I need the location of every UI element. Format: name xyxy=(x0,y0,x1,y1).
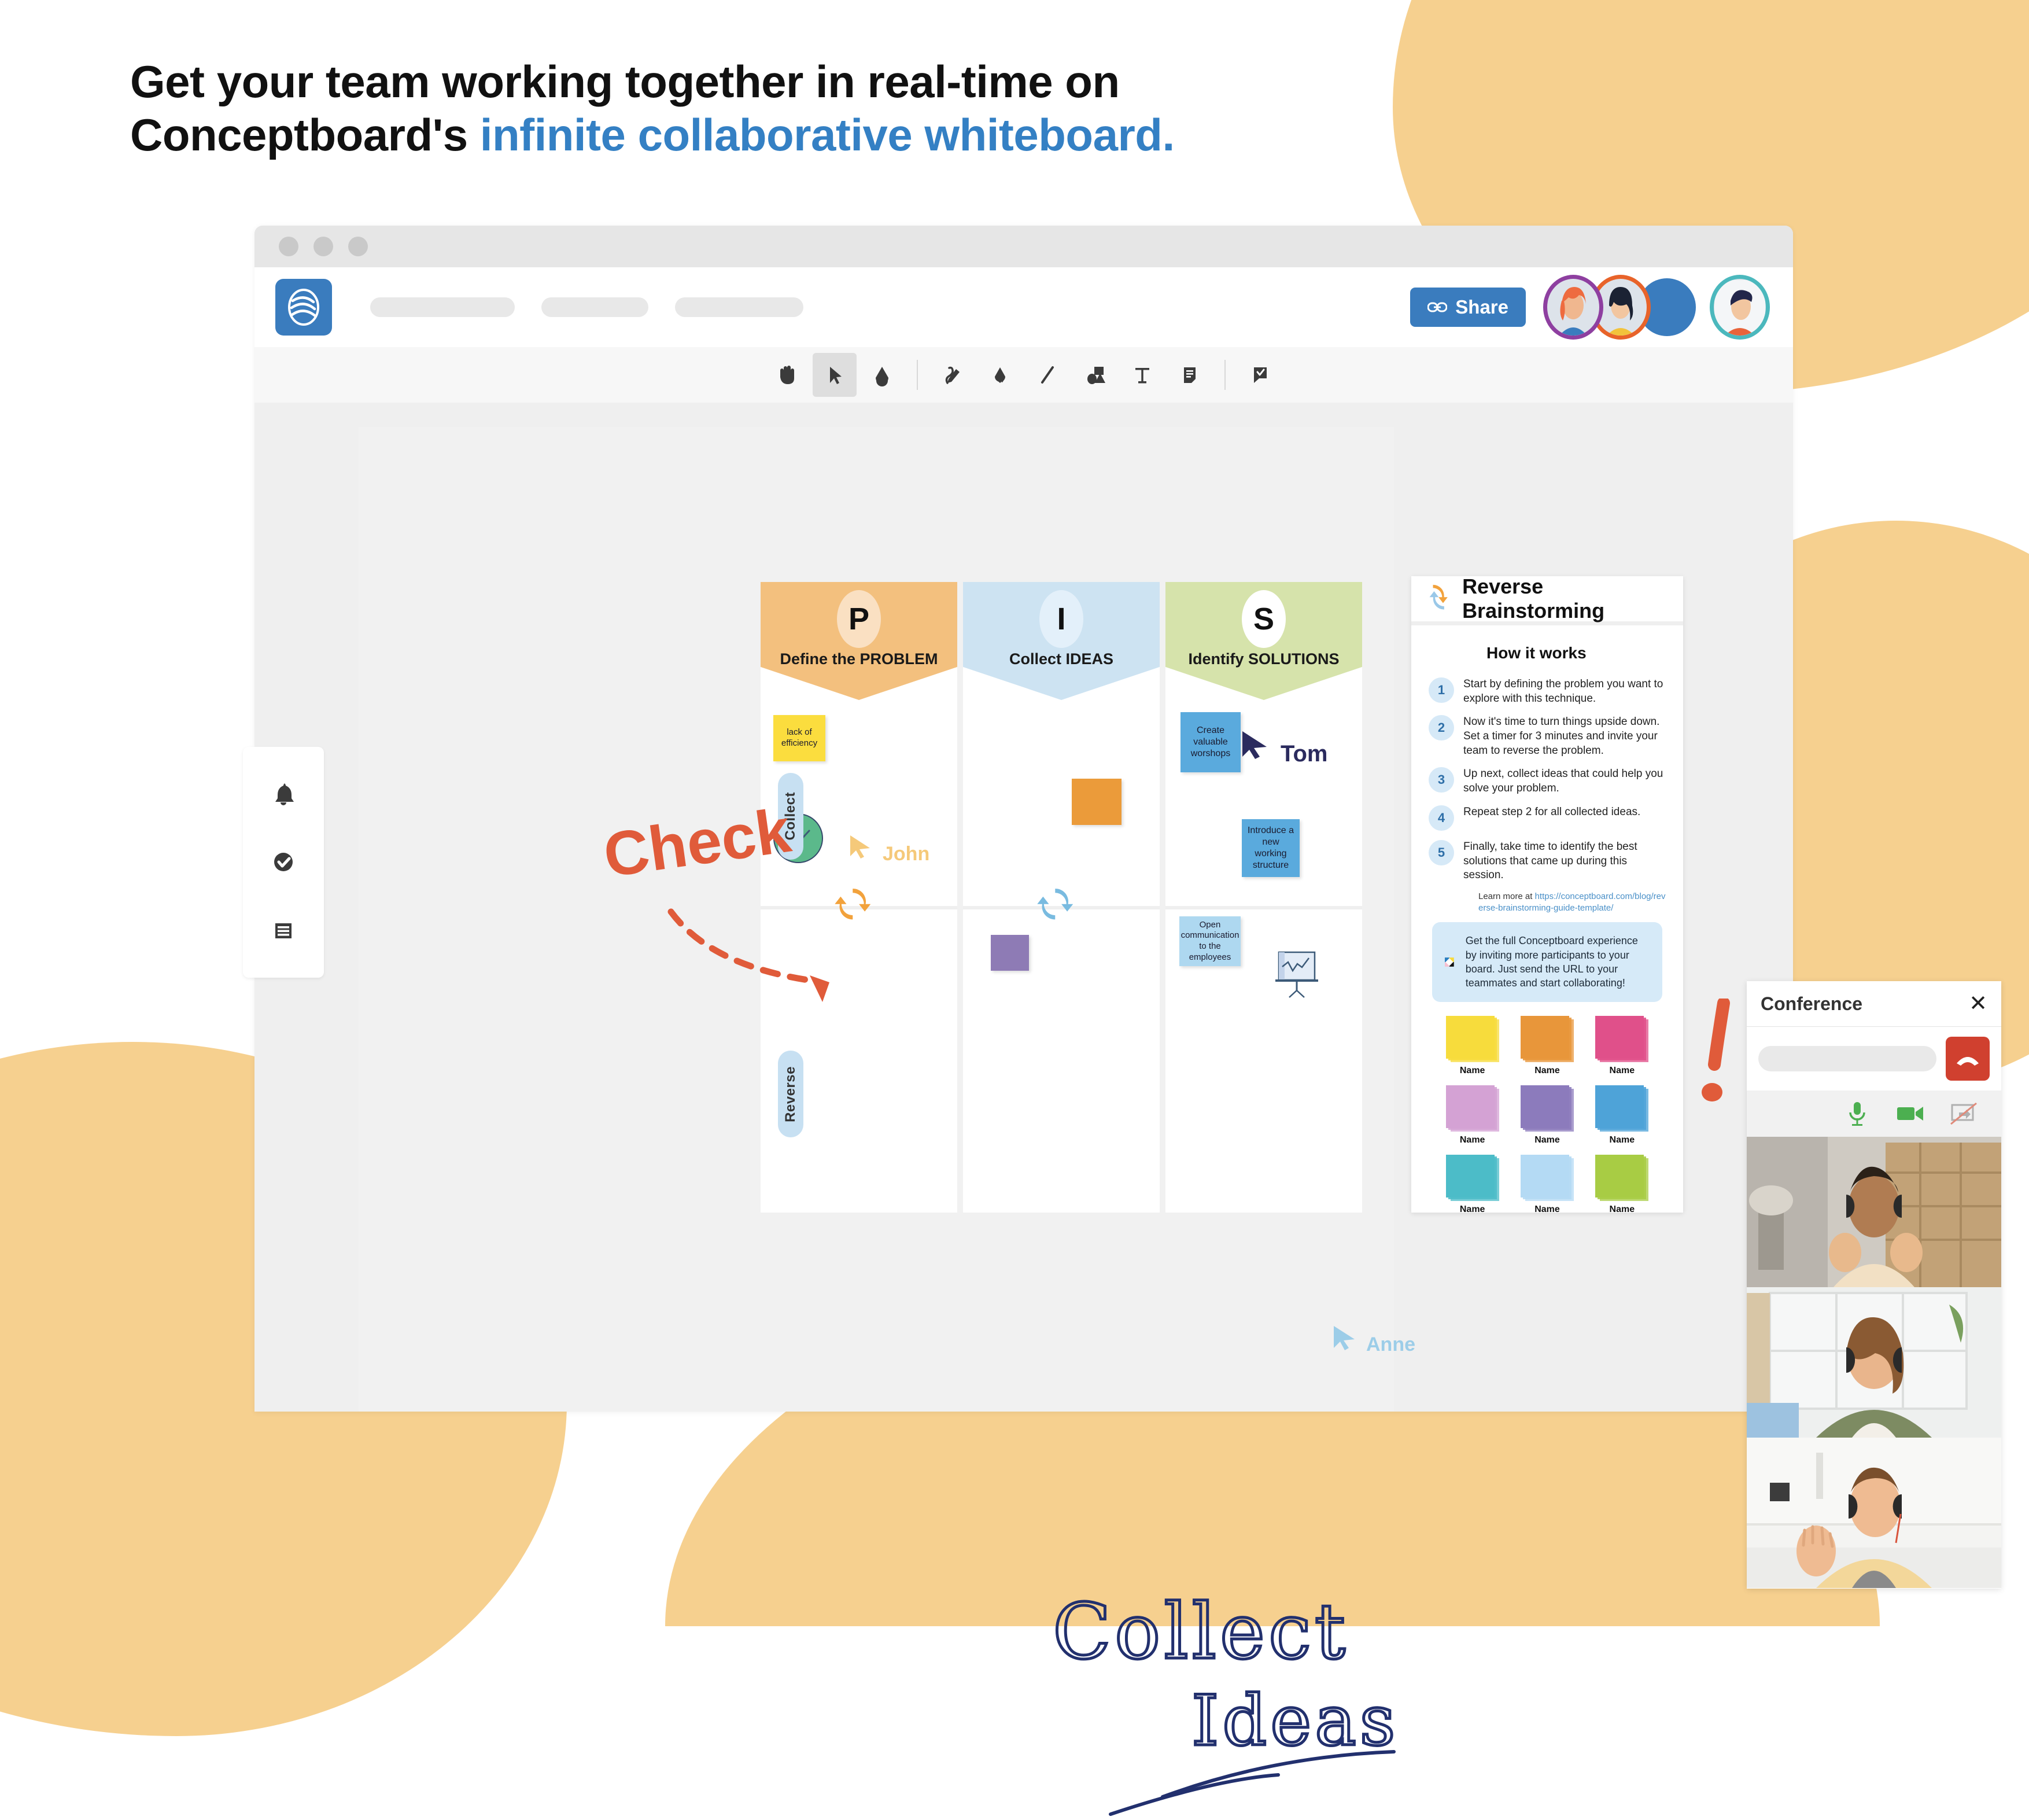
cursor-john-label: John xyxy=(883,843,929,865)
sticky-stack-label: Name xyxy=(1460,1135,1485,1145)
sticky-stack-label: Name xyxy=(1460,1066,1485,1076)
column-ideas-letter: I xyxy=(1039,590,1083,648)
board-toolbar xyxy=(254,347,1793,403)
column-solutions[interactable]: S Identify SOLUTIONS Create valuable wor… xyxy=(1165,582,1362,1213)
avatar-user-1[interactable] xyxy=(1543,275,1603,340)
sticky-stack[interactable] xyxy=(1446,1085,1499,1132)
sticky-stack-item[interactable]: Name xyxy=(1588,1155,1657,1213)
row-tab-reverse-label: Reverse xyxy=(783,1066,799,1122)
pis-columns: P Define the PROBLEM lack of efficiency … xyxy=(761,582,1388,1213)
rb-step-number: 3 xyxy=(1429,767,1454,793)
toolbar-separator-1 xyxy=(917,360,918,390)
rb-card-body: How it works 1 Start by defining the pro… xyxy=(1411,625,1683,1213)
sticky-note-lack-of-efficiency[interactable]: lack of efficiency xyxy=(773,715,825,761)
cursor-tom: Tom xyxy=(1238,727,1327,767)
headline-line-2-accent: infinite collaborative whiteboard. xyxy=(480,109,1175,160)
sticky-stack[interactable] xyxy=(1521,1155,1574,1201)
purple-square-shape[interactable] xyxy=(991,935,1029,971)
screen-share-button[interactable] xyxy=(1947,1097,1980,1130)
phone-hangup-icon xyxy=(1954,1051,1981,1067)
headline-line-2-plain: Conceptboard's xyxy=(130,109,480,160)
link-icon xyxy=(1427,300,1447,314)
conference-header: Conference ✕ xyxy=(1747,981,2001,1027)
bell-icon xyxy=(268,779,298,809)
headline-line-2: Conceptboard's infinite collaborative wh… xyxy=(130,108,1634,161)
orange-square-shape[interactable] xyxy=(1072,779,1122,825)
microphone-button[interactable] xyxy=(1840,1097,1874,1130)
sidebar-item-notifications[interactable] xyxy=(264,775,302,813)
sticky-stack[interactable] xyxy=(1446,1016,1499,1062)
sticky-stack-item[interactable]: Name xyxy=(1512,1016,1581,1083)
participant-video-3[interactable] xyxy=(1747,1438,2001,1588)
cursor-arrow-icon-john xyxy=(846,831,880,865)
microphone-icon xyxy=(1844,1100,1870,1128)
sticky-stack-item[interactable]: Name xyxy=(1512,1155,1581,1213)
cursor-john: John xyxy=(846,831,929,865)
share-button[interactable]: Share xyxy=(1410,288,1526,327)
browser-window: Share xyxy=(254,226,1793,1412)
rb-step-number: 4 xyxy=(1429,805,1454,831)
text-t-icon xyxy=(1130,362,1155,388)
conceptboard-diamond-icon xyxy=(1445,946,1454,978)
camera-button[interactable] xyxy=(1894,1097,1927,1130)
window-titlebar xyxy=(254,226,1793,267)
rb-step: 1 Start by defining the problem you want… xyxy=(1429,676,1666,706)
sticky-note-open-communication[interactable]: Open communication to the employees xyxy=(1179,916,1241,966)
share-button-label: Share xyxy=(1455,296,1508,318)
refresh-cycle-icon-orange[interactable] xyxy=(832,883,882,935)
conference-controls xyxy=(1747,1090,2001,1137)
sticky-stack[interactable] xyxy=(1595,1155,1648,1201)
column-solutions-letter: S xyxy=(1242,590,1286,648)
board-left-sidebar xyxy=(243,747,324,978)
sticky-stack-item[interactable]: Name xyxy=(1438,1085,1507,1152)
rb-step-number: 1 xyxy=(1429,677,1454,703)
nav-pill-1[interactable] xyxy=(370,297,515,317)
eraser-tool[interactable] xyxy=(860,353,904,397)
column-problem-letter: P xyxy=(837,590,881,648)
nav-pill-3[interactable] xyxy=(675,297,803,317)
column-ideas-banner: I Collect IDEAS xyxy=(963,582,1160,700)
sticky-stack-label: Name xyxy=(1610,1135,1635,1145)
refresh-cycle-icon xyxy=(1424,583,1454,614)
sticky-stack-label: Name xyxy=(1610,1204,1635,1213)
rb-step-number: 2 xyxy=(1429,715,1454,740)
video-camera-icon xyxy=(1896,1104,1925,1123)
avatar-user-4[interactable] xyxy=(1710,275,1770,340)
nav-pill-2[interactable] xyxy=(541,297,648,317)
text-tool[interactable] xyxy=(1120,353,1164,397)
sticky-stack[interactable] xyxy=(1521,1085,1574,1132)
comment-check-icon xyxy=(1248,362,1273,388)
sticky-stack-item[interactable]: Name xyxy=(1512,1085,1581,1152)
cursor-arrow-icon xyxy=(822,362,847,388)
comment-tool[interactable] xyxy=(1238,353,1282,397)
toolbar-separator-2 xyxy=(1224,360,1226,390)
participant-video-2[interactable] xyxy=(1747,1287,2001,1438)
sticky-stack[interactable] xyxy=(1446,1155,1499,1201)
conference-name-placeholder xyxy=(1758,1046,1936,1071)
cursor-anne-label: Anne xyxy=(1366,1333,1415,1356)
rb-sticky-palette: Name Name Name xyxy=(1429,1016,1666,1213)
cursor-tom-label: Tom xyxy=(1281,741,1327,767)
rb-step-number: 5 xyxy=(1429,840,1454,865)
sticky-stack-item[interactable]: Name xyxy=(1588,1085,1657,1152)
sticky-stack-item[interactable]: Name xyxy=(1438,1155,1507,1213)
row-tab-collect[interactable]: Collect xyxy=(778,773,803,860)
column-solutions-label: Identify SOLUTIONS xyxy=(1188,650,1339,668)
rb-step-text: Now it's time to turn things upside down… xyxy=(1463,714,1666,758)
list-icon xyxy=(268,916,298,946)
reverse-brainstorming-card[interactable]: Reverse Brainstorming How it works 1 Sta… xyxy=(1411,576,1683,1213)
rb-step-text: Up next, collect ideas that could help y… xyxy=(1463,766,1666,795)
screen-share-off-icon xyxy=(1950,1102,1978,1125)
shape-tool[interactable] xyxy=(1073,353,1117,397)
window-dot-maximize[interactable] xyxy=(348,237,368,256)
column-problem-label: Define the PROBLEM xyxy=(780,650,938,668)
conference-panel[interactable]: Conference ✕ xyxy=(1747,981,2001,1589)
window-dot-close[interactable] xyxy=(279,237,298,256)
rb-card-header: Reverse Brainstorming xyxy=(1411,576,1683,625)
rb-step: 4 Repeat step 2 for all collected ideas. xyxy=(1429,804,1666,831)
row-tab-collect-label: Collect xyxy=(783,792,799,841)
rb-step: 3 Up next, collect ideas that could help… xyxy=(1429,766,1666,795)
column-solutions-divider xyxy=(1165,906,1362,909)
row-tab-reverse[interactable]: Reverse xyxy=(778,1051,803,1137)
cursor-arrow-icon-tom xyxy=(1238,727,1278,767)
column-ideas[interactable]: I Collect IDEAS xyxy=(963,582,1160,1213)
column-solutions-banner: S Identify SOLUTIONS xyxy=(1165,582,1362,700)
participant-video-1[interactable] xyxy=(1747,1137,2001,1287)
rb-step-text: Finally, take time to identify the best … xyxy=(1463,839,1666,883)
page-headline: Get your team working together in real-t… xyxy=(130,55,1634,161)
conceptboard-logo-icon[interactable] xyxy=(275,279,332,336)
rb-how-it-works-heading: How it works xyxy=(1486,644,1587,662)
rb-invite-text: Get the full Conceptboard experience by … xyxy=(1466,934,1650,990)
rb-step: 5 Finally, take time to identify the bes… xyxy=(1429,839,1666,883)
rb-learn-more: Learn more at https://conceptboard.com/b… xyxy=(1478,891,1666,915)
line-icon xyxy=(1035,362,1060,388)
sticky-stack-label: Name xyxy=(1534,1204,1560,1213)
app-header: Share xyxy=(254,267,1793,347)
sticky-stack-label: Name xyxy=(1534,1066,1560,1076)
app-header-right: Share xyxy=(1410,275,1770,340)
sticky-stack[interactable] xyxy=(1521,1016,1574,1062)
sticky-stack[interactable] xyxy=(1595,1085,1648,1132)
sticky-stack[interactable] xyxy=(1595,1016,1648,1062)
column-ideas-label: Collect IDEAS xyxy=(1009,650,1113,668)
hand-tool[interactable] xyxy=(765,353,809,397)
marker-icon xyxy=(987,362,1013,388)
rb-invite-callout: Get the full Conceptboard experience by … xyxy=(1432,922,1662,1001)
avatar-group xyxy=(1543,275,1770,340)
select-tool[interactable] xyxy=(813,353,857,397)
pen-tool[interactable] xyxy=(931,353,975,397)
sticky-note-icon xyxy=(1177,362,1202,388)
column-problem-banner: P Define the PROBLEM xyxy=(761,582,957,700)
refresh-cycle-icon-blue[interactable] xyxy=(1035,883,1084,935)
board-canvas[interactable]: Collect Reverse P Define the PROBLEM lac… xyxy=(254,403,1793,1412)
sidebar-item-tasks[interactable] xyxy=(264,843,302,881)
rb-learn-more-prefix: Learn more at xyxy=(1478,891,1535,901)
flipchart-chart-icon[interactable] xyxy=(1271,946,1324,1003)
sticky-stack-item[interactable]: Name xyxy=(1438,1016,1507,1083)
sticky-stack-label: Name xyxy=(1534,1135,1560,1145)
rb-step-text: Start by defining the problem you want t… xyxy=(1463,676,1666,706)
rb-card-title: Reverse Brainstorming xyxy=(1462,576,1683,623)
annotation-ideas-text: Ideas xyxy=(1191,1681,1399,1762)
sticky-note-tool[interactable] xyxy=(1168,353,1212,397)
hand-icon xyxy=(774,362,800,388)
check-circle-icon xyxy=(268,847,298,877)
close-x-icon[interactable]: ✕ xyxy=(1969,993,1987,1015)
conference-title: Conference xyxy=(1761,993,1862,1015)
sticky-note-create-workshops[interactable]: Create valuable worshops xyxy=(1180,712,1241,772)
marker-tool[interactable] xyxy=(978,353,1022,397)
cursor-arrow-icon-anne xyxy=(1329,1321,1364,1356)
headline-line-1: Get your team working together in real-t… xyxy=(130,55,1634,108)
conference-call-row xyxy=(1747,1027,2001,1090)
sticky-stack-item[interactable]: Name xyxy=(1588,1016,1657,1083)
line-tool[interactable] xyxy=(1025,353,1069,397)
sidebar-item-board-list[interactable] xyxy=(264,912,302,950)
rb-step: 2 Now it's time to turn things upside do… xyxy=(1429,714,1666,758)
eraser-icon xyxy=(869,362,895,388)
sticky-stack-label: Name xyxy=(1460,1204,1485,1213)
cursor-anne: Anne xyxy=(1329,1321,1415,1356)
sticky-note-new-working-structure[interactable]: Introduce a new working structure xyxy=(1242,819,1300,877)
rb-step-text: Repeat step 2 for all collected ideas. xyxy=(1463,804,1640,820)
hangup-button[interactable] xyxy=(1946,1037,1990,1081)
shapes-icon xyxy=(1082,362,1108,388)
pen-icon xyxy=(940,362,965,388)
sticky-stack-label: Name xyxy=(1610,1066,1635,1076)
window-dot-minimize[interactable] xyxy=(313,237,333,256)
nav-placeholder-pills xyxy=(370,297,803,317)
